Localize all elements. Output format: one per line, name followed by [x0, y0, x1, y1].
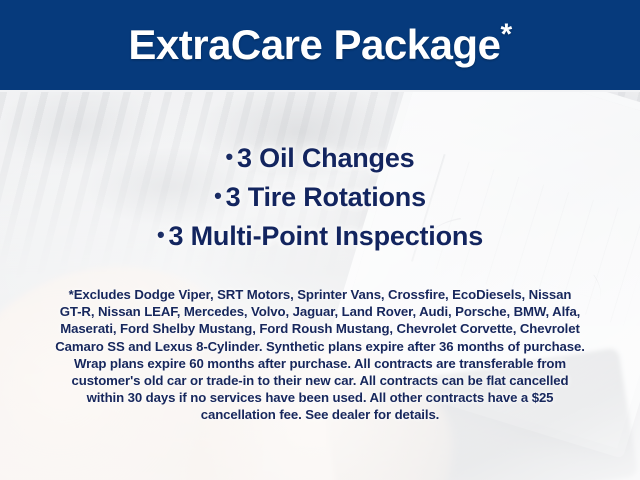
disclaimer-line: within 30 days if no services have been … — [28, 389, 612, 406]
extracare-package-promo-card: ExtraCare Package* •3 Oil Changes •3 Tir… — [0, 0, 640, 480]
disclaimer-line: Camaro SS and Lexus 8-Cylinder. Syntheti… — [28, 338, 612, 355]
benefit-item-label: 3 Multi-Point Inspections — [169, 221, 484, 251]
header-band: ExtraCare Package* — [0, 0, 640, 92]
benefits-list: •3 Oil Changes •3 Tire Rotations •3 Mult… — [0, 138, 640, 255]
benefit-item-label: 3 Oil Changes — [237, 143, 414, 173]
page-title-text: ExtraCare Package — [128, 21, 500, 68]
disclaimer-line: Wrap plans expire 60 months after purcha… — [28, 355, 612, 372]
disclaimer-line: cancellation fee. See dealer for details… — [28, 406, 612, 423]
benefit-item-label: 3 Tire Rotations — [226, 182, 426, 212]
bullet-icon: • — [226, 144, 234, 169]
disclaimer-line: GT-R, Nissan LEAF, Mercedes, Volvo, Jagu… — [28, 303, 612, 320]
disclaimer-line: *Excludes Dodge Viper, SRT Motors, Sprin… — [28, 286, 612, 303]
disclaimer-text: *Excludes Dodge Viper, SRT Motors, Sprin… — [28, 286, 612, 424]
bullet-icon: • — [157, 222, 165, 247]
page-title-asterisk: * — [500, 18, 511, 51]
benefit-item: •3 Tire Rotations — [0, 177, 640, 216]
benefit-item: •3 Multi-Point Inspections — [0, 216, 640, 255]
bullet-icon: • — [214, 183, 222, 208]
disclaimer-line: customer's old car or trade-in to their … — [28, 372, 612, 389]
benefit-item: •3 Oil Changes — [0, 138, 640, 177]
disclaimer-line: Maserati, Ford Shelby Mustang, Ford Rous… — [28, 320, 612, 337]
page-title: ExtraCare Package* — [128, 24, 511, 66]
